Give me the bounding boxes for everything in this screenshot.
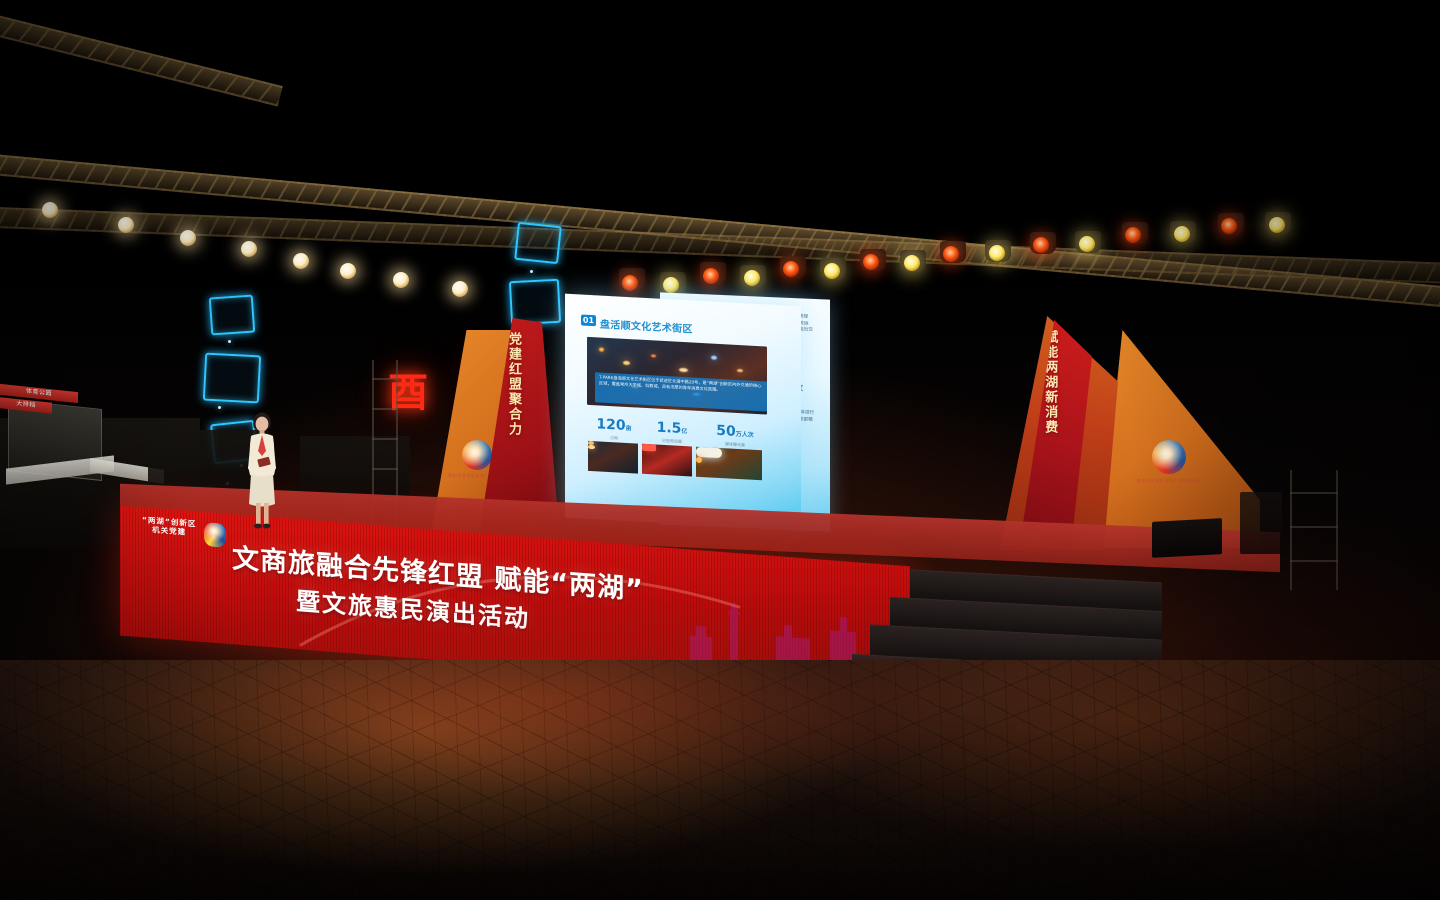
stage-lamp-white xyxy=(340,263,356,279)
stage-speaker-stack xyxy=(1240,492,1282,554)
stage-lamp-yellow xyxy=(1269,217,1285,233)
stage-lamp-red xyxy=(1221,218,1237,234)
stage-lamp-yellow xyxy=(744,270,760,286)
slide-stat-2-value: 50 xyxy=(716,423,735,440)
slide-thumbnail-2 xyxy=(642,444,692,477)
stage-lamp-white xyxy=(118,217,134,233)
slide-thumbnail-1 xyxy=(588,441,638,474)
slide-thumbnail-3 xyxy=(696,447,762,481)
stage-lamp-yellow xyxy=(1174,226,1190,242)
stage-lamp-red xyxy=(863,254,879,270)
stage-lamp-white xyxy=(452,281,468,297)
stage-lamp-red xyxy=(1033,237,1049,253)
paved-ground-foreground xyxy=(0,660,1440,900)
banner-emblem-icon xyxy=(204,522,226,548)
slide-photo-caption: T-PARK盘海原文化艺术街区位于武进区北浦中路20号，是“两湖”创新区内外交通… xyxy=(595,372,767,411)
stage-lamp-white xyxy=(393,272,409,288)
scaffold-tower-right xyxy=(1290,470,1338,590)
decor-text-left: 党建红盟聚合力 xyxy=(506,332,520,437)
stage-lamp-white xyxy=(180,230,196,246)
slide-stat-1-value: 1.5 xyxy=(657,420,682,437)
slide-stat-2-unit: 万人次 xyxy=(736,431,754,439)
stage-lamp-yellow xyxy=(989,245,1005,261)
stage-photo-scene: 体育公园 大排档 酉 西 常州市武进区文体广电和旅游局 党建红盟聚合力 作为汽车… xyxy=(0,0,1440,900)
slide-stat-0-value: 120 xyxy=(596,416,625,434)
stage-lamp-white xyxy=(42,202,58,218)
stage-monitor-speaker-right xyxy=(1152,518,1222,558)
led-screen-left-half: 01 盘活顺文化艺术街区 T-PARK盘海原文化艺术街区位于武进区北浦中路20号… xyxy=(565,294,801,531)
stage-lamp-red xyxy=(703,268,719,284)
stage-lamp-red xyxy=(1125,227,1141,243)
stage-lamp-red xyxy=(622,275,638,291)
stage-lamp-yellow xyxy=(824,263,840,279)
slide-stat-1: 1.5亿 已投资总额 xyxy=(647,416,697,446)
slide-stat-2: 50万人次 媒体曝光量 xyxy=(707,419,763,449)
slide-badge-number: 01 xyxy=(581,314,596,326)
stage-lamp-white xyxy=(293,253,309,269)
organization-emblem-right xyxy=(1152,440,1186,474)
stage-lamp-red xyxy=(943,246,959,262)
slide-hero-photo: T-PARK盘海原文化艺术街区位于武进区北浦中路20号，是“两湖”创新区内外交通… xyxy=(587,337,767,415)
presenter-on-stage xyxy=(240,408,284,530)
slide-title: 盘活顺文化艺术街区 xyxy=(600,316,693,336)
slide-stat-1-unit: 亿 xyxy=(681,428,687,435)
stage-lamp-yellow xyxy=(663,277,679,293)
slide-stat-0: 120亩 占地 xyxy=(589,413,639,443)
emblem-label-right: 常州市武进区文体广电和旅游局 xyxy=(1136,478,1202,484)
stage-lamp-yellow xyxy=(904,255,920,271)
stage-lamp-yellow xyxy=(1079,236,1095,252)
organization-emblem-left xyxy=(462,440,492,470)
stage-lamp-red xyxy=(783,261,799,277)
slide-stat-0-unit: 亩 xyxy=(626,425,632,432)
stage-lamp-white xyxy=(241,241,257,257)
